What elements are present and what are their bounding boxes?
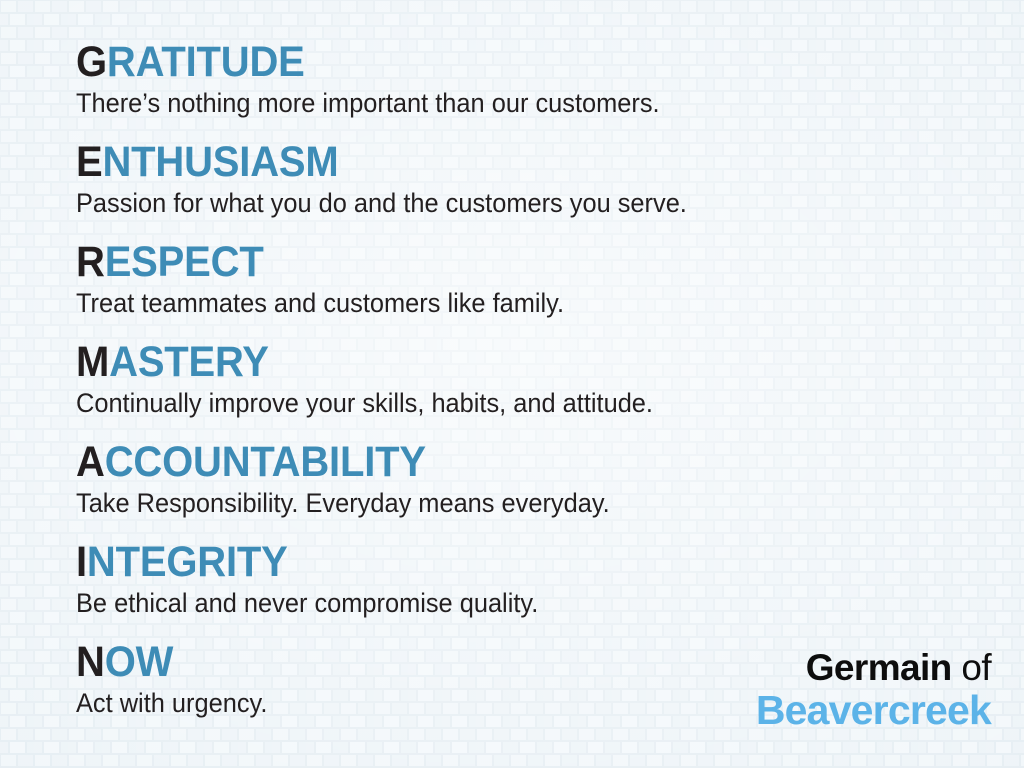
value-item-enthusiasm: ENTHUSIASM Passion for what you do and t… — [76, 140, 726, 218]
logo-conjunction: of — [952, 647, 991, 688]
value-initial-integrity: I — [76, 538, 87, 586]
value-initial-accountability: A — [76, 438, 105, 486]
value-item-mastery: MASTERY Continually improve your skills,… — [76, 340, 690, 418]
value-item-accountability: ACCOUNTABILITY Take Responsibility. Ever… — [76, 440, 644, 518]
value-item-gratitude: GRATITUDE There’s nothing more important… — [76, 40, 697, 118]
value-rest-gratitude: RATITUDE — [107, 38, 305, 86]
value-heading-now: NOW — [76, 640, 265, 684]
value-rest-now: OW — [105, 638, 173, 686]
value-description-gratitude: There’s nothing more important than our … — [76, 88, 660, 118]
value-description-accountability: Take Responsibility. Everyday means ever… — [76, 488, 610, 518]
logo-location: Beavercreek — [756, 688, 991, 732]
value-initial-gratitude: G — [76, 38, 107, 86]
value-heading-mastery: MASTERY — [76, 340, 647, 384]
value-description-mastery: Continually improve your skills, habits,… — [76, 388, 653, 418]
value-heading-accountability: ACCOUNTABILITY — [76, 440, 604, 484]
value-description-enthusiasm: Passion for what you do and the customer… — [76, 188, 687, 218]
value-heading-enthusiasm: ENTHUSIASM — [76, 140, 680, 184]
value-item-integrity: INTEGRITY Be ethical and never compromis… — [76, 540, 568, 618]
value-rest-respect: ESPECT — [105, 238, 264, 286]
value-initial-respect: R — [76, 238, 105, 286]
value-initial-enthusiasm: E — [76, 138, 102, 186]
value-initial-now: N — [76, 638, 105, 686]
value-heading-respect: RESPECT — [76, 240, 559, 284]
value-description-respect: Treat teammates and customers like famil… — [76, 288, 564, 318]
value-initial-mastery: M — [76, 338, 109, 386]
dealership-logo: Germain of Beavercreek — [756, 648, 991, 732]
value-rest-accountability: CCOUNTABILITY — [105, 438, 426, 486]
value-rest-mastery: ASTERY — [109, 338, 269, 386]
value-heading-gratitude: GRATITUDE — [76, 40, 653, 84]
value-rest-integrity: NTEGRITY — [87, 538, 288, 586]
value-rest-enthusiasm: NTHUSIASM — [102, 138, 338, 186]
values-slide: GRATITUDE There’s nothing more important… — [0, 0, 1024, 768]
logo-brand: Germain — [806, 647, 952, 688]
values-list: GRATITUDE There’s nothing more important… — [0, 0, 1024, 768]
value-description-now: Act with urgency. — [76, 688, 267, 718]
logo-line-primary: Germain of — [756, 648, 991, 688]
value-description-integrity: Be ethical and never compromise quality. — [76, 588, 538, 618]
value-item-now: NOW Act with urgency. — [76, 640, 280, 718]
value-item-respect: RESPECT Treat teammates and customers li… — [76, 240, 595, 318]
value-heading-integrity: INTEGRITY — [76, 540, 533, 584]
